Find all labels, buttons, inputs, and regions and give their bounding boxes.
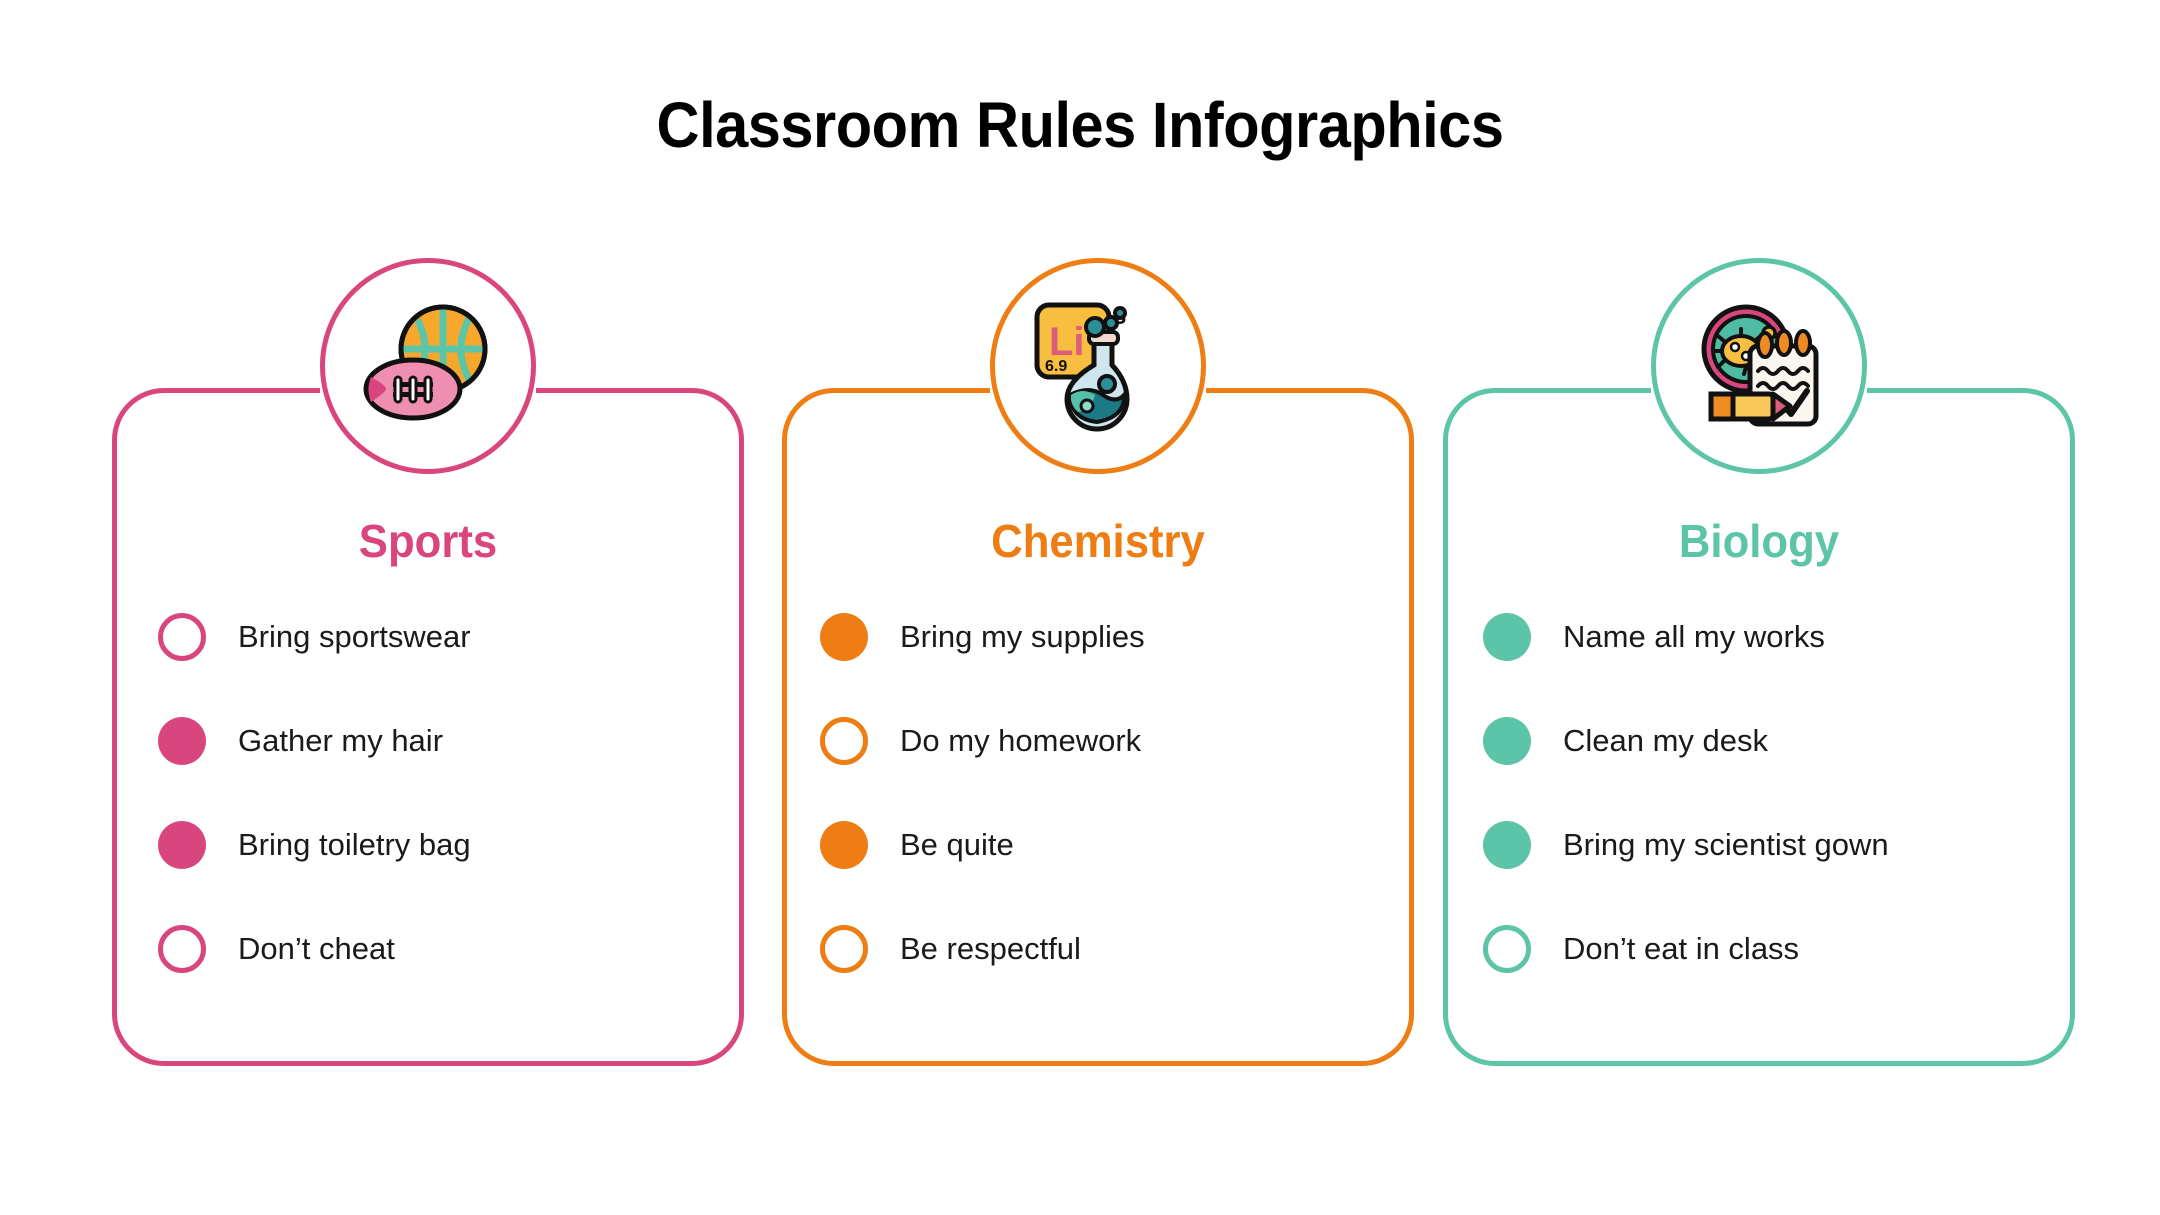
rule-label: Don’t cheat [238,931,395,967]
card-title-chemistry: Chemistry [798,514,1398,568]
rule-item[interactable]: Be respectful [820,912,1380,986]
bullet-hollow [820,717,868,765]
bullet-filled [1483,613,1531,661]
petri-dish-notepad-pencil-icon [1684,291,1834,441]
rules-chemistry: Bring my supplies Do my homework Be quit… [820,600,1380,1016]
rule-label: Don’t eat in class [1563,931,1799,967]
rule-item[interactable]: Be quite [820,808,1380,882]
rule-item[interactable]: Bring toiletry bag [158,808,718,882]
rule-label: Bring toiletry bag [238,827,471,863]
bullet-hollow [820,925,868,973]
cards-container: Sports [0,0,2160,1215]
lithium-tile-flask-icon: Li 6.9 3 [1023,291,1173,441]
rule-item[interactable]: Don’t cheat [158,912,718,986]
card-title-biology: Biology [1459,514,2059,568]
rule-item[interactable]: Clean my desk [1483,704,2043,778]
bullet-hollow [158,925,206,973]
bullet-filled [158,821,206,869]
bullet-hollow [1483,925,1531,973]
basketball-football-icon [353,291,503,441]
bullet-filled [1483,717,1531,765]
rule-item[interactable]: Name all my works [1483,600,2043,674]
infographic-canvas: Classroom Rules Infographics Sports [0,0,2160,1215]
rule-label: Be respectful [900,931,1081,967]
badge-biology [1651,258,1867,474]
rule-item[interactable]: Gather my hair [158,704,718,778]
rule-label: Bring my scientist gown [1563,827,1889,863]
rule-item[interactable]: Bring sportswear [158,600,718,674]
rule-label: Name all my works [1563,619,1825,655]
badge-sports [320,258,536,474]
rule-label: Gather my hair [238,723,443,759]
svg-text:6.9: 6.9 [1045,358,1067,375]
bullet-hollow [158,613,206,661]
rule-label: Bring my supplies [900,619,1145,655]
rule-item[interactable]: Do my homework [820,704,1380,778]
rules-sports: Bring sportswear Gather my hair Bring to… [158,600,718,1016]
card-title-sports: Sports [128,514,728,568]
bullet-filled [158,717,206,765]
bullet-filled [820,613,868,661]
rule-item[interactable]: Don’t eat in class [1483,912,2043,986]
bullet-filled [1483,821,1531,869]
rule-label: Do my homework [900,723,1141,759]
rule-item[interactable]: Bring my scientist gown [1483,808,2043,882]
badge-chemistry: Li 6.9 3 [990,258,1206,474]
rule-item[interactable]: Bring my supplies [820,600,1380,674]
rules-biology: Name all my works Clean my desk Bring my… [1483,600,2043,1016]
rule-label: Bring sportswear [238,619,471,655]
rule-label: Clean my desk [1563,723,1768,759]
bullet-filled [820,821,868,869]
rule-label: Be quite [900,827,1014,863]
